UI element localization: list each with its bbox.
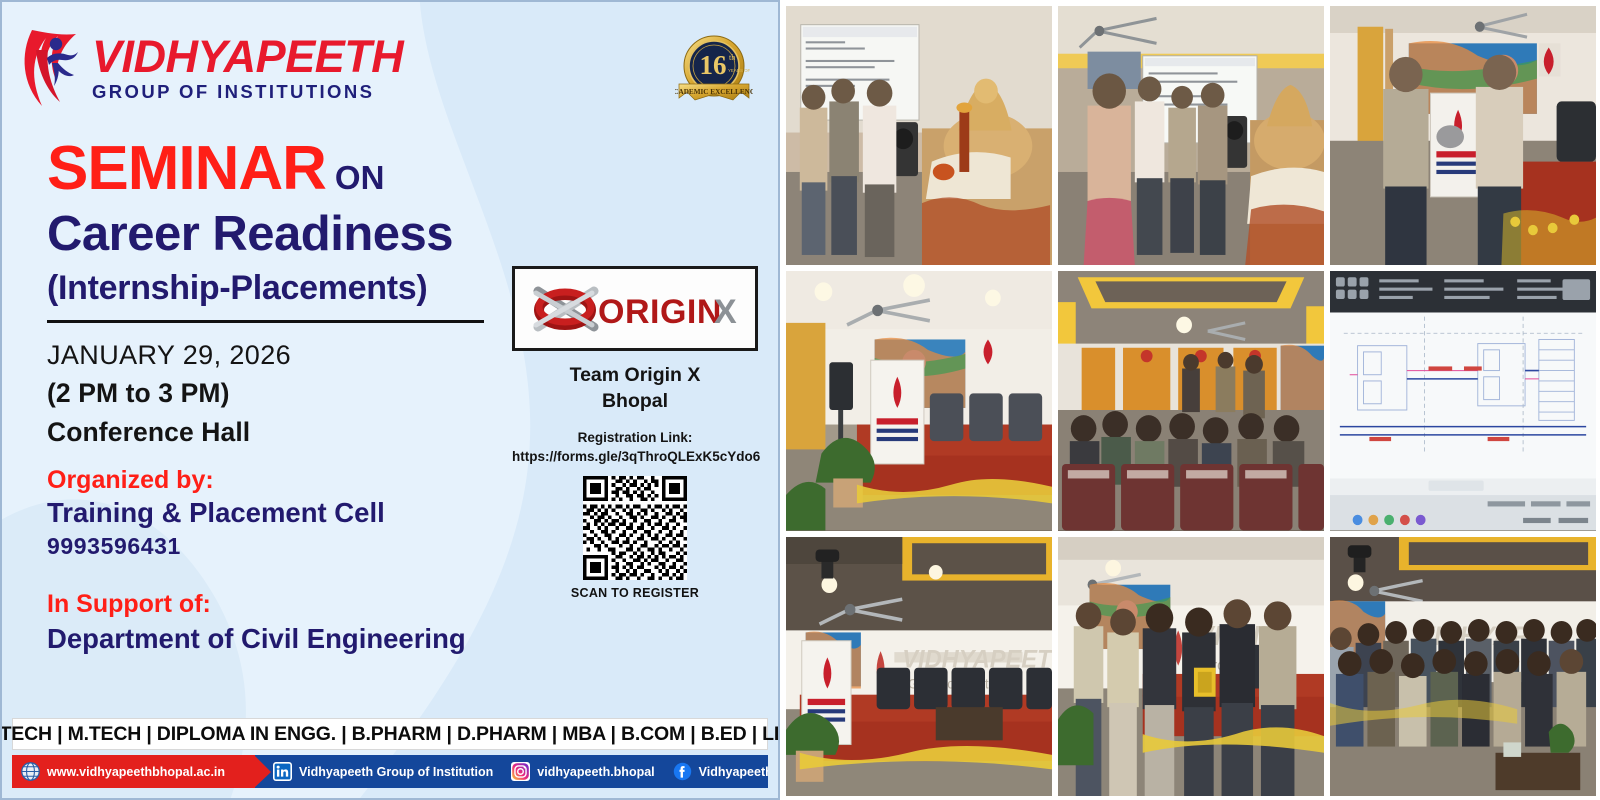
partner-team-name: Team Origin X Bhopal <box>512 363 758 415</box>
svg-text:YEARS OF: YEARS OF <box>728 68 751 73</box>
gallery-photo-3 <box>1330 6 1596 265</box>
support-value: Department of Civil Engineering <box>47 621 466 657</box>
social-label-linkedin: Vidhyapeeth Group of Institution <box>299 765 493 779</box>
gallery-photo-1 <box>786 6 1052 265</box>
support-label: In Support of: <box>47 588 466 621</box>
courses-strip: B.TECH | M.TECH | DIPLOMA IN ENGG. | B.P… <box>12 718 768 750</box>
gallery-photo-9: VIDHYAP <box>1330 537 1596 796</box>
website-label: www.vidhyapeethbhopal.ac.in <box>47 765 225 779</box>
origin-x-logo: ORIGIN X <box>512 266 758 351</box>
origin-x-logo-icon: ORIGIN X <box>520 273 750 345</box>
linkedin-icon <box>273 762 292 781</box>
event-photo-grid: VIDHYAPEETH Group of Institutions <box>780 0 1600 800</box>
headline-divider <box>47 320 484 323</box>
seminar-poster: VIDHYAPEETH GROUP OF INSTITUTIONS <box>0 0 1600 800</box>
website-chip[interactable]: www.vidhyapeethbhopal.ac.in <box>12 755 255 788</box>
vidhyapeeth-swoosh-figure-logo-icon <box>16 22 90 114</box>
organized-by-label: Organized by: <box>47 464 385 496</box>
event-time: (2 PM to 3 PM) <box>47 374 547 412</box>
social-item-linkedin[interactable]: Vidhyapeeth Group of Institution <box>273 762 493 781</box>
event-details: JANUARY 29, 2026 (2 PM to 3 PM) Conferen… <box>47 336 547 451</box>
poster-left-panel: VIDHYAPEETH GROUP OF INSTITUTIONS <box>0 0 780 800</box>
gallery-photo-5 <box>1058 271 1324 530</box>
svg-text:ORIGIN: ORIGIN <box>598 293 722 331</box>
organized-by-block: Organized by: Training & Placement Cell … <box>47 464 385 563</box>
brand-logo: VIDHYAPEETH GROUP OF INSTITUTIONS <box>16 22 403 114</box>
globe-icon <box>21 762 40 781</box>
contact-phone: 9993596431 <box>47 530 385 562</box>
social-label-facebook: Vidhyapeeth Group of Institutions <box>699 765 768 779</box>
event-venue: Conference Hall <box>47 413 547 451</box>
headline-title: Career Readiness <box>47 206 547 264</box>
gallery-photo-4 <box>786 271 1052 530</box>
registration-label: Registration Link: <box>512 428 758 448</box>
headline-block: SEMINARON Career Readiness (Internship-P… <box>47 138 547 451</box>
scan-to-register-label: SCAN TO REGISTER <box>512 586 758 600</box>
support-block: In Support of: Department of Civil Engin… <box>47 588 466 656</box>
gallery-photo-8: VIDHYA Group of Ins <box>1058 537 1324 796</box>
partner-block: ORIGIN X Team Origin X Bhopal Registrati… <box>512 266 758 600</box>
headline-word-on: ON <box>335 159 385 196</box>
social-item-instagram[interactable]: vidhyapeeth.bhopal <box>511 762 654 781</box>
partner-team-line2: Bhopal <box>512 389 758 415</box>
svg-text:X: X <box>714 293 737 331</box>
social-label-instagram: vidhyapeeth.bhopal <box>537 765 654 779</box>
qr-code-icon[interactable] <box>583 476 687 580</box>
gallery-photo-6 <box>1330 271 1596 530</box>
svg-text:16: 16 <box>700 50 727 80</box>
headline-seminar-line: SEMINARON <box>47 138 547 200</box>
gallery-photo-2 <box>1058 6 1324 265</box>
instagram-icon <box>511 762 530 781</box>
brand-tagline: GROUP OF INSTITUTIONS <box>92 82 403 102</box>
courses-text: B.TECH | M.TECH | DIPLOMA IN ENGG. | B.P… <box>0 723 780 746</box>
organized-by-value: Training & Placement Cell <box>47 496 385 530</box>
academic-excellence-seal-icon: 16 th YEARS OF ACADEMIC EXCELLENCE <box>675 30 753 115</box>
svg-text:ACADEMIC EXCELLENCE: ACADEMIC EXCELLENCE <box>675 88 753 96</box>
headline-subtitle: (Internship-Placements) <box>47 268 547 309</box>
svg-text:th: th <box>729 53 735 62</box>
headline-word-seminar: SEMINAR <box>47 134 326 203</box>
event-date: JANUARY 29, 2026 <box>47 336 547 375</box>
facebook-icon <box>673 762 692 781</box>
social-bar: www.vidhyapeethbhopal.ac.in Vidhyapeeth … <box>12 755 768 788</box>
partner-team-line1: Team Origin X <box>512 363 758 389</box>
registration-link[interactable]: https://forms.gle/3qThroQLExK5cYdo6 <box>512 447 758 467</box>
gallery-photo-7: VIDHYAPEETH Group of Institutions <box>786 537 1052 796</box>
social-item-facebook[interactable]: Vidhyapeeth Group of Institutions <box>673 762 768 781</box>
brand-name: VIDHYAPEETH <box>92 34 403 79</box>
